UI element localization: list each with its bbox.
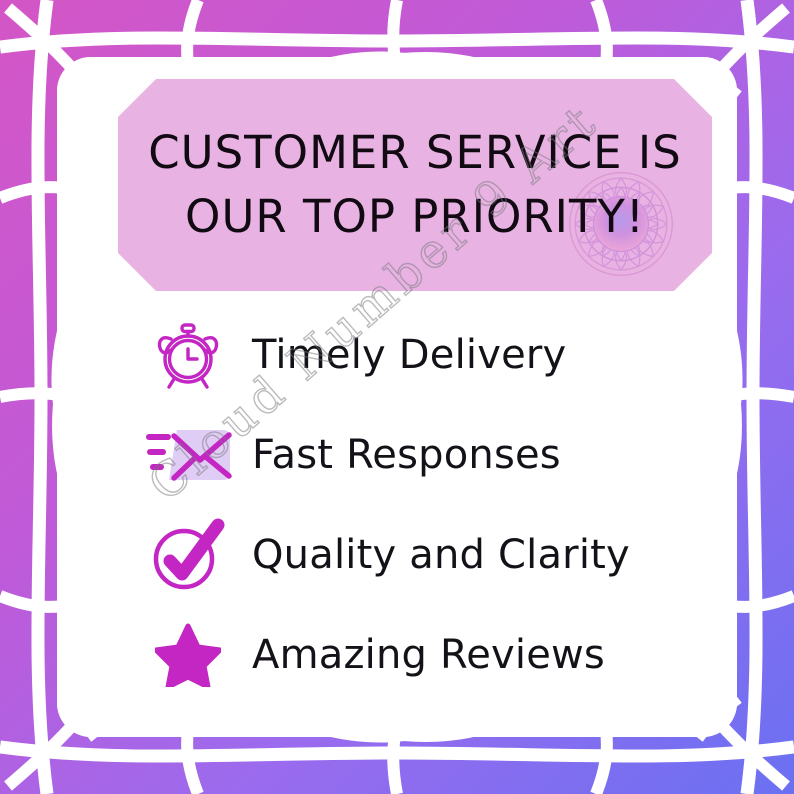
feature-label-quality-clarity: Quality and Clarity: [252, 532, 630, 578]
poster-canvas: CUSTOMER SERVICE IS OUR TOP PRIORITY!: [0, 0, 794, 794]
feature-list: Timely Delivery: [140, 305, 700, 705]
feature-row-quality-clarity: Quality and Clarity: [140, 505, 700, 605]
feature-label-amazing-reviews: Amazing Reviews: [252, 632, 605, 678]
star-icon: [140, 614, 236, 696]
alarm-clock-icon: [140, 314, 236, 396]
headline-line-1: CUSTOMER SERVICE IS: [148, 121, 682, 185]
headline-line-2: OUR TOP PRIORITY!: [185, 185, 645, 249]
feature-row-fast-responses: Fast Responses: [140, 405, 700, 505]
headline-text-block: CUSTOMER SERVICE IS OUR TOP PRIORITY!: [118, 79, 712, 291]
feature-row-timely-delivery: Timely Delivery: [140, 305, 700, 405]
check-circle-icon: [140, 514, 236, 596]
feature-label-fast-responses: Fast Responses: [252, 432, 561, 478]
fast-envelope-icon: [140, 414, 236, 496]
headline-banner: CUSTOMER SERVICE IS OUR TOP PRIORITY!: [118, 79, 712, 291]
feature-label-timely-delivery: Timely Delivery: [252, 332, 566, 378]
feature-row-amazing-reviews: Amazing Reviews: [140, 605, 700, 705]
